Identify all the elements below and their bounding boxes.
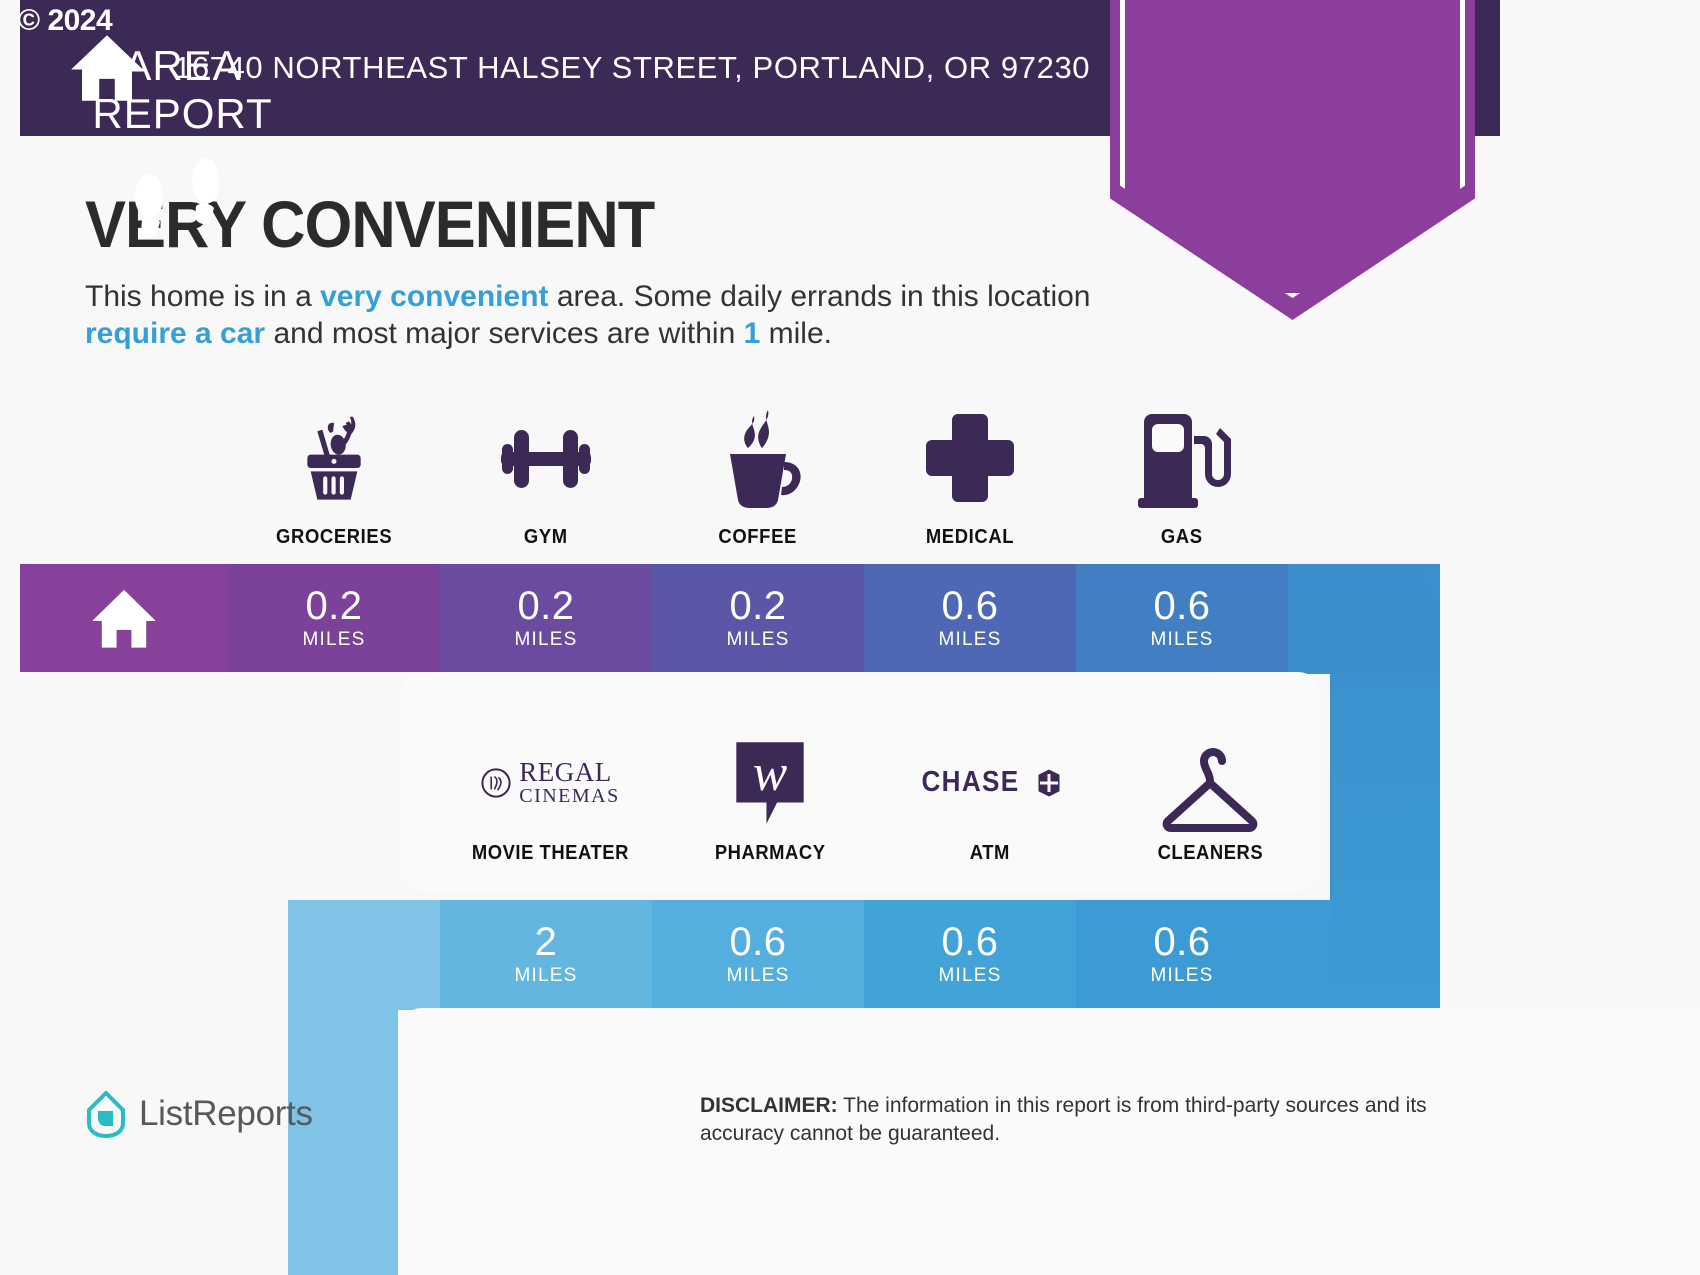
category-label: CLEANERS: [1157, 842, 1263, 865]
gas-pump-icon: [1132, 408, 1232, 508]
distance-cell-groceries: 0.2MILES: [228, 564, 440, 672]
dumbbell-icon: [496, 408, 596, 508]
row2-category-icons: REGALCINEMASMOVIE THEATERwPHARMACYCHASEA…: [440, 735, 1320, 885]
desc-emphasis-1: very convenient: [320, 280, 548, 313]
distance-cell-cleaners: 0.6MILES: [1076, 900, 1288, 1008]
distance-unit: MILES: [726, 629, 789, 651]
footsteps-icon: [122, 152, 242, 244]
copyright-label: © 2024: [18, 4, 112, 38]
desc-part-3: and most major services are within: [265, 317, 744, 350]
hanger-icon: [1160, 735, 1260, 830]
distance-unit: MILES: [1150, 965, 1213, 987]
category-coffee: COFFEE: [652, 408, 864, 558]
category-label: ATM: [970, 842, 1010, 865]
category-pharmacy: wPHARMACY: [660, 735, 880, 885]
distance-unit: MILES: [938, 965, 1001, 987]
distance-unit: MILES: [726, 965, 789, 987]
category-groceries: GROCERIES: [228, 408, 440, 558]
distance-cell-pharmacy: 0.6MILES: [652, 900, 864, 1008]
distance-value: 2: [535, 921, 558, 963]
category-label: GYM: [524, 526, 568, 549]
category-label: GAS: [1161, 526, 1203, 549]
category-movie-theater: REGALCINEMASMOVIE THEATER: [440, 735, 660, 885]
distance-value: 0.2: [305, 585, 362, 627]
category-label: MOVIE THEATER: [471, 842, 628, 865]
distance-value: 0.6: [1153, 921, 1210, 963]
category-gym: GYM: [440, 408, 652, 558]
distance-cell-coffee: 0.2MILES: [652, 564, 864, 672]
distance-value: 0.6: [941, 585, 998, 627]
svg-text:w: w: [753, 745, 787, 802]
distance-value: 0.6: [1153, 585, 1210, 627]
badge-title: AREA REPORT: [0, 42, 365, 138]
desc-part-4: mile.: [760, 317, 832, 350]
distance-unit: MILES: [938, 629, 1001, 651]
medical-cross-icon: [920, 408, 1020, 508]
distance-cell-gas: 0.6MILES: [1076, 564, 1288, 672]
distance-value: 0.2: [517, 585, 574, 627]
distance-unit: MILES: [514, 629, 577, 651]
desc-part-1: This home is in a: [85, 280, 320, 313]
chase-logo: CHASE: [916, 735, 1064, 830]
category-medical: MEDICAL: [864, 408, 1076, 558]
distance-cell-medical: 0.6MILES: [864, 564, 1076, 672]
category-label: PHARMACY: [715, 842, 826, 865]
distance-value: 0.6: [729, 921, 786, 963]
desc-emphasis-2: require a car: [85, 317, 265, 350]
listreports-pin-icon: [85, 1090, 127, 1138]
distance-cell-atm: 0.6MILES: [864, 900, 1076, 1008]
distance-cell-movie-theater: 2MILES: [440, 900, 652, 1008]
row2-distance-bar: 2MILES0.6MILES0.6MILES0.6MILES: [288, 900, 1440, 1008]
regal-wordmark-bottom: CINEMAS: [519, 786, 620, 806]
row1-category-icons: GROCERIESGYMCOFFEEMEDICALGAS: [228, 408, 1288, 558]
disclaimer-text: DISCLAIMER: The information in this repo…: [700, 1092, 1500, 1148]
category-label: GROCERIES: [276, 526, 392, 549]
house-icon: [87, 581, 161, 655]
distance-value: 0.6: [941, 921, 998, 963]
disclaimer-label: DISCLAIMER:: [700, 1094, 838, 1117]
category-atm: CHASEATM: [880, 735, 1100, 885]
home-marker: [20, 564, 228, 672]
chase-wordmark: CHASE: [921, 766, 1019, 799]
category-label: MEDICAL: [926, 526, 1014, 549]
desc-emphasis-3: 1: [744, 317, 761, 350]
listreports-logo-text: ListReports: [139, 1094, 313, 1134]
distance-unit: MILES: [302, 629, 365, 651]
distance-unit: MILES: [514, 965, 577, 987]
distance-value: 0.2: [729, 585, 786, 627]
coffee-cup-icon: [708, 408, 808, 508]
category-gas: GAS: [1076, 408, 1288, 558]
row1-distance-bar: 0.2MILES0.2MILES0.2MILES0.6MILES0.6MILES: [20, 564, 1440, 672]
description-text: This home is in a very convenient area. …: [85, 278, 1095, 352]
grocery-basket-icon: [284, 408, 384, 508]
track-right-top-corner: [1332, 564, 1440, 674]
distance-cell-gym: 0.2MILES: [440, 564, 652, 672]
regal-cinemas-logo: REGALCINEMAS: [480, 735, 620, 830]
distance-unit: MILES: [1150, 629, 1213, 651]
category-label: COFFEE: [719, 526, 798, 549]
badge-line-2: REPORT: [0, 90, 365, 138]
row2-lead-segment: [288, 900, 440, 1008]
regal-wordmark-top: REGAL: [519, 759, 620, 786]
listreports-logo: ListReports: [85, 1090, 313, 1138]
badge-line-1: AREA: [0, 42, 365, 90]
desc-part-2: area. Some daily errands in this locatio…: [549, 280, 1091, 313]
walgreens-logo: w: [731, 735, 809, 830]
category-cleaners: CLEANERS: [1100, 735, 1320, 885]
